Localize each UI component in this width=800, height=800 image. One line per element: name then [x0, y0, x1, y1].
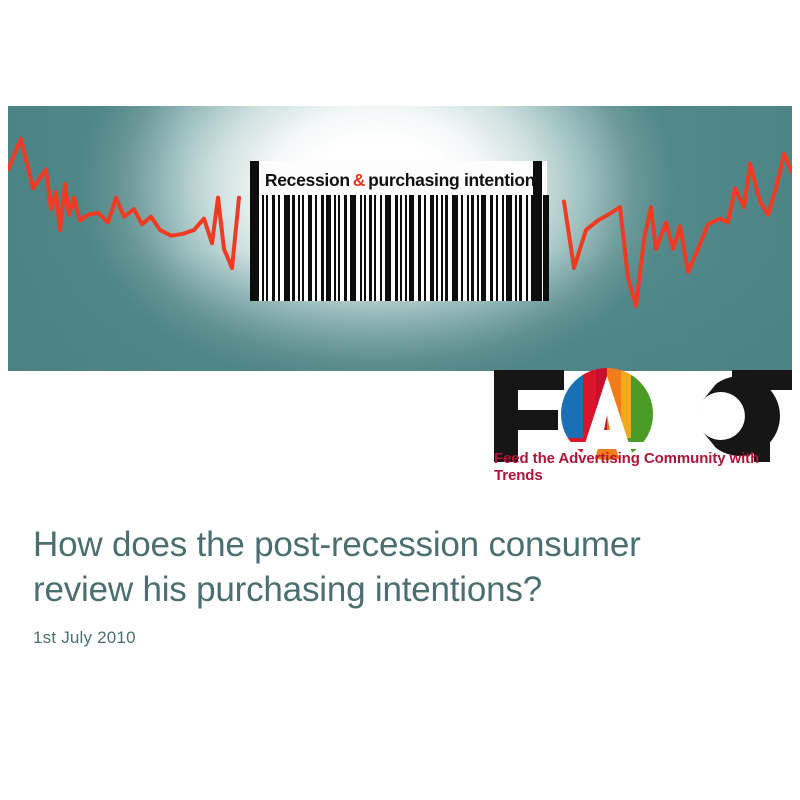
barcode-bar [369, 195, 372, 301]
barcode-bar [338, 195, 340, 301]
barcode-bar [496, 195, 498, 301]
barcode-bar [515, 195, 517, 301]
barcode-bar [409, 195, 414, 301]
barcode-bar [364, 195, 366, 301]
barcode-guard-right [533, 161, 542, 301]
fact-logo-tagline: Feed the Advertising Community with Tren… [494, 450, 792, 484]
barcode-bar [380, 195, 382, 301]
barcode-bar [395, 195, 398, 301]
barcode-bar [262, 195, 264, 301]
trend-line [564, 154, 792, 306]
logo-letter-a [561, 368, 656, 462]
barcode-bar [385, 195, 391, 301]
barcode-bar [526, 195, 528, 301]
slide-root: Recession & purchasing intention [0, 0, 800, 800]
barcode-bar [436, 195, 438, 301]
barcode-caption: Recession & purchasing intention [263, 165, 537, 195]
logo-letter-f [494, 370, 564, 462]
barcode-graphic: Recession & purchasing intention [245, 161, 555, 301]
barcode-bar [452, 195, 458, 301]
barcode-bar [360, 195, 362, 301]
barcode-bar [315, 195, 317, 301]
barcode-bar [344, 195, 347, 301]
barcode-bar [461, 195, 463, 301]
barcode-bar [424, 195, 426, 301]
barcode-bar [405, 195, 407, 301]
barcode-bar [278, 195, 280, 301]
barcode-bar [430, 195, 434, 301]
barcode-bar [284, 195, 290, 301]
barcode-bar [302, 195, 304, 301]
barcode-bar [441, 195, 443, 301]
barcode-bar [374, 195, 376, 301]
barcode-bar [292, 195, 295, 301]
barcode-bar [543, 195, 547, 301]
barcode-bar [445, 195, 448, 301]
barcode-bar [321, 195, 324, 301]
barcode-bar [272, 195, 275, 301]
barcode-bar [350, 195, 356, 301]
barcode-bar [400, 195, 402, 301]
barcode-bar [502, 195, 504, 301]
barcode-bar [308, 195, 312, 301]
barcode-bar [519, 195, 522, 301]
trend-line [8, 139, 239, 268]
barcode-bars [253, 195, 547, 301]
barcode-bar [490, 195, 493, 301]
barcode-bar [506, 195, 512, 301]
page-title-line-2: review his purchasing intentions? [33, 567, 763, 612]
barcode-bar [471, 195, 474, 301]
barcode-caption-ampersand: & [350, 170, 368, 191]
page-date: 1st July 2010 [33, 628, 136, 648]
page-title-line-1: How does the post-recession consumer [33, 522, 763, 567]
barcode-bar [418, 195, 421, 301]
barcode-bar [467, 195, 469, 301]
barcode-caption-suffix: purchasing intention [368, 170, 535, 191]
barcode-bar [477, 195, 479, 301]
barcode-guard-left [250, 161, 259, 301]
barcode-bar [326, 195, 331, 301]
barcode-bar [266, 195, 268, 301]
barcode-bar [334, 195, 336, 301]
barcode-bar [481, 195, 486, 301]
page-title: How does the post-recession consumer rev… [33, 522, 763, 612]
barcode-caption-prefix: Recession [265, 170, 350, 191]
barcode-bar [298, 195, 300, 301]
fact-logo: Feed the Advertising Community with Tren… [492, 368, 792, 476]
